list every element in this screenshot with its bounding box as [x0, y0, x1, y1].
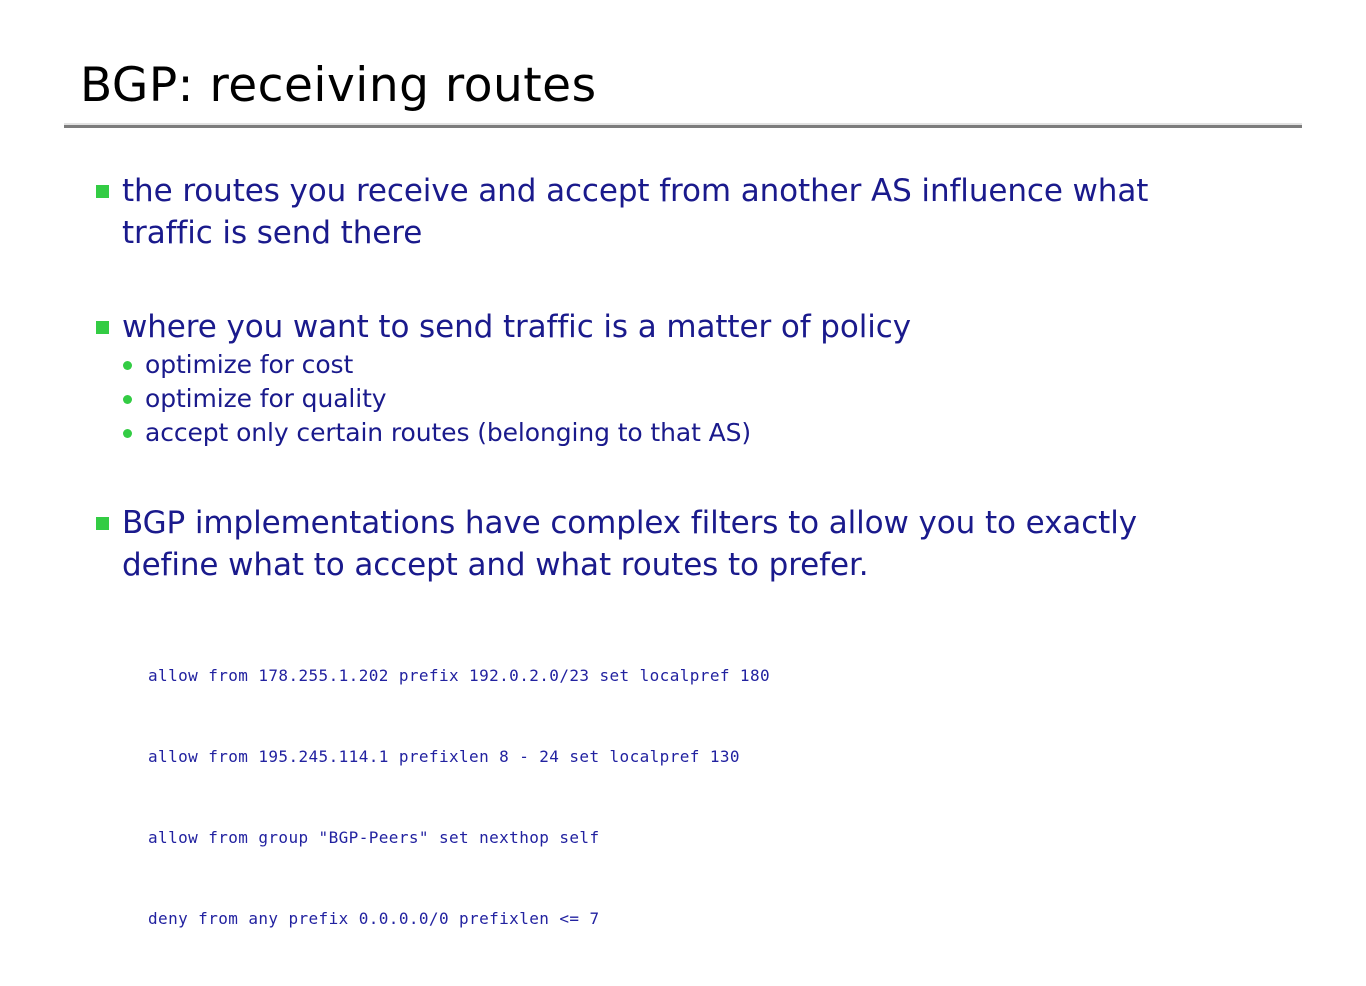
green-round-bullet-icon: [123, 429, 132, 438]
bullet-item-3: BGP implementations have complex filters…: [0, 502, 1366, 586]
title-divider: [64, 123, 1302, 128]
page-title: BGP: receiving routes: [80, 58, 597, 114]
bullet-item-2-label: where you want to send traffic is a matt…: [122, 306, 1237, 348]
config-code-block: allow from 178.255.1.202 prefix 192.0.2.…: [0, 608, 1366, 986]
spacer: [0, 450, 1366, 502]
slide: BGP: receiving routes the routes you rec…: [0, 0, 1366, 768]
green-square-bullet-icon: [96, 185, 109, 198]
code-line: allow from 195.245.114.1 prefixlen 8 - 2…: [148, 743, 1366, 770]
bullet-item-2: where you want to send traffic is a matt…: [0, 306, 1366, 348]
code-line: allow from group "BGP-Peers" set nexthop…: [148, 824, 1366, 851]
green-round-bullet-icon: [123, 395, 132, 404]
bullet-item-3-label: BGP implementations have complex filters…: [122, 502, 1237, 586]
sub-bullet-item-1: optimize for cost: [0, 348, 1366, 382]
sub-bullet-item-3-label: accept only certain routes (belonging to…: [145, 418, 751, 447]
green-square-bullet-icon: [96, 321, 109, 334]
code-line: deny from any prefix 0.0.0.0/0 prefixlen…: [148, 905, 1366, 932]
green-round-bullet-icon: [123, 361, 132, 370]
code-line: allow from 178.255.1.202 prefix 192.0.2.…: [148, 662, 1366, 689]
sub-bullet-item-2-label: optimize for quality: [145, 384, 387, 413]
sub-bullet-item-3: accept only certain routes (belonging to…: [0, 416, 1366, 450]
green-square-bullet-icon: [96, 517, 109, 530]
sub-bullet-item-2: optimize for quality: [0, 382, 1366, 416]
sub-bullet-item-1-label: optimize for cost: [145, 350, 353, 379]
spacer: [0, 254, 1366, 306]
bullet-item-1-label: the routes you receive and accept from a…: [122, 170, 1237, 254]
bullet-item-1: the routes you receive and accept from a…: [0, 170, 1366, 254]
slide-body: the routes you receive and accept from a…: [0, 170, 1366, 986]
